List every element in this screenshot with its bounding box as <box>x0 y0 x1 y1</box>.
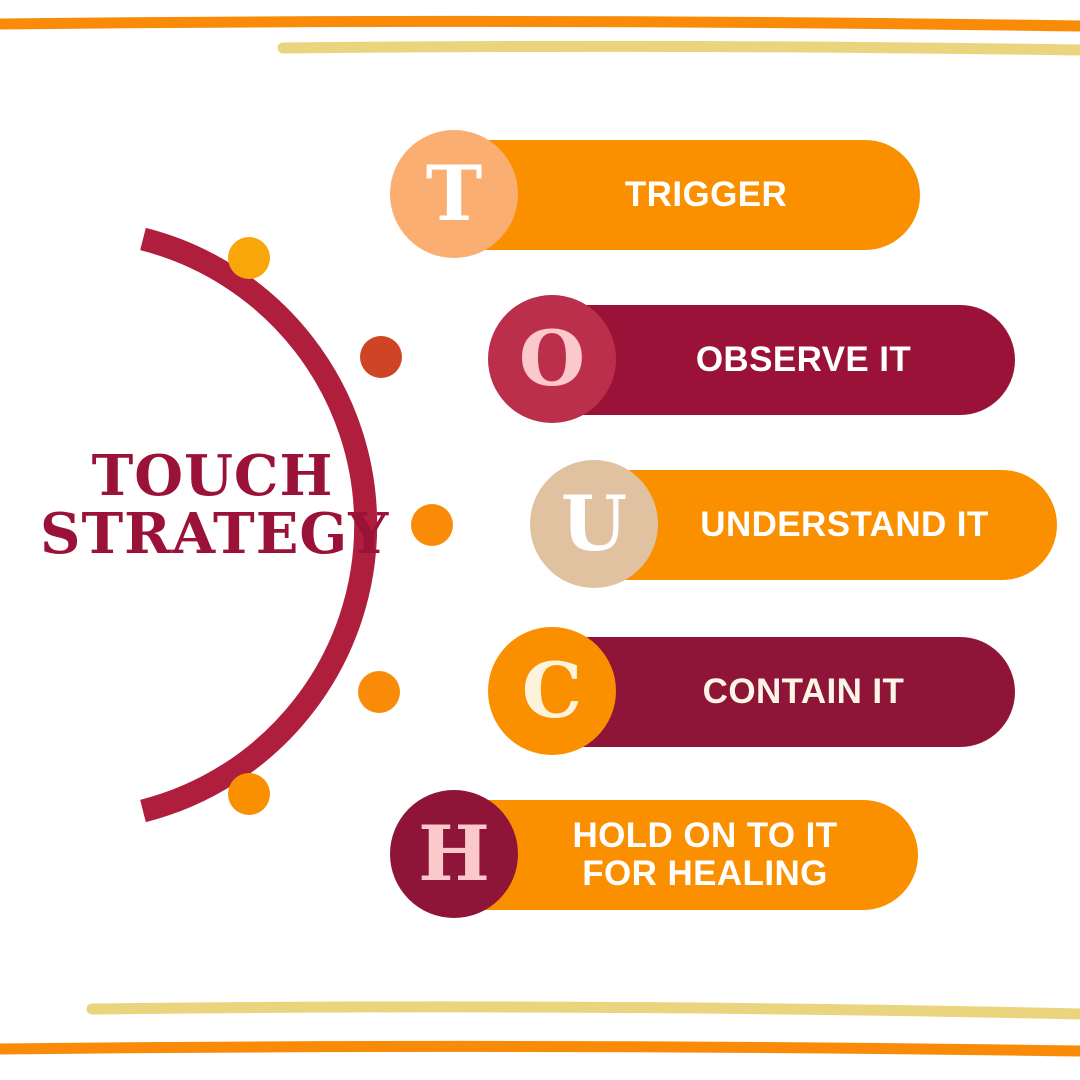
arc-dot-4 <box>358 671 400 713</box>
step-letter-u: U <box>561 486 627 562</box>
step-badge-h: H <box>390 790 518 918</box>
step-label-trigger: TRIGGER <box>529 176 811 214</box>
step-letter-t: T <box>426 156 483 232</box>
step-label-hold-on: HOLD ON TO IT FOR HEALING <box>476 817 861 893</box>
step-label-contain: CONTAIN IT <box>607 673 929 711</box>
step-badge-t: T <box>390 130 518 258</box>
page-title-line-1: TOUCH <box>40 448 385 506</box>
step-badge-u: U <box>530 460 658 588</box>
infographic-canvas: TOUCH STRATEGY TRIGGER T OBSERVE IT O UN… <box>0 0 1080 1080</box>
arc-dot-3 <box>411 504 453 546</box>
step-letter-h: H <box>418 816 490 892</box>
arc-dot-5 <box>228 773 270 815</box>
arc-dot-2 <box>360 336 402 378</box>
step-badge-c: C <box>488 627 616 755</box>
step-label-observe: OBSERVE IT <box>600 341 935 379</box>
arc-dot-1 <box>228 237 270 279</box>
step-badge-o: O <box>488 295 616 423</box>
step-letter-c: C <box>522 653 583 729</box>
step-label-understand: UNDERSTAND IT <box>604 506 1012 544</box>
page-title: TOUCH STRATEGY <box>40 448 385 563</box>
step-letter-o: O <box>519 321 585 397</box>
page-title-line-2: STRATEGY <box>40 506 385 564</box>
